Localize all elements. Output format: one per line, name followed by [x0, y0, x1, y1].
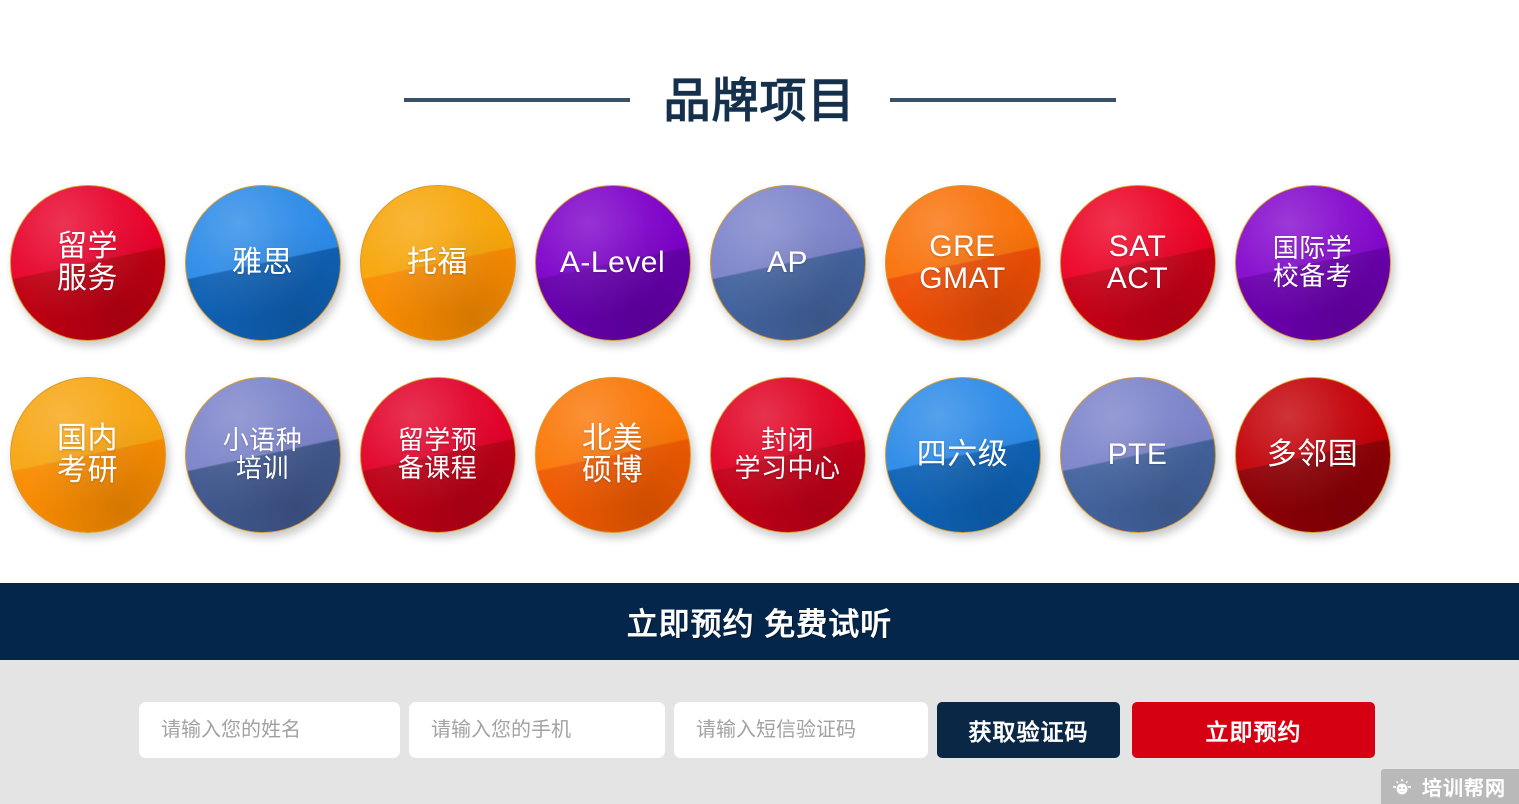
booking-form-strip: 获取验证码 立即预约 [0, 660, 1519, 804]
program-cell: 雅思 [175, 178, 350, 348]
program-circle-beimei-shuobo[interactable]: 北美 硕博 [535, 377, 691, 533]
program-label: 北美 硕博 [576, 423, 649, 487]
get-verification-code-button[interactable]: 获取验证码 [937, 702, 1120, 758]
name-input[interactable] [139, 702, 400, 758]
program-label: GRE GMAT [913, 231, 1011, 295]
program-cell: 国际学 校备考 [1225, 178, 1400, 348]
program-circle-grid: 留学 服务雅思托福A-LevelAPGRE GMATSAT ACT国际学 校备考… [0, 178, 1519, 544]
title-rule-left [404, 98, 630, 102]
program-circle-siliuji[interactable]: 四六级 [885, 377, 1041, 533]
program-label: 雅思 [226, 247, 299, 279]
program-cell: 北美 硕博 [525, 370, 700, 540]
program-cell: 多邻国 [1225, 370, 1400, 540]
program-cell: 封闭 学习中心 [700, 370, 875, 540]
program-circle-guoji-xuexiao[interactable]: 国际学 校备考 [1235, 185, 1391, 341]
program-label: 国内 考研 [51, 423, 124, 487]
program-label: 留学预 备课程 [392, 427, 484, 482]
program-cell: 四六级 [875, 370, 1050, 540]
program-label: A-Level [554, 247, 671, 279]
program-label: 封闭 学习中心 [728, 427, 846, 482]
program-cell: SAT ACT [1050, 178, 1225, 348]
program-cell: PTE [1050, 370, 1225, 540]
page-title-bar: 品牌项目 [0, 62, 1519, 138]
program-row-2: 国内 考研小语种 培训留学预 备课程北美 硕博封闭 学习中心四六级PTE多邻国 [0, 370, 1519, 540]
program-label: 四六级 [911, 439, 1015, 471]
phone-input[interactable] [409, 702, 665, 758]
brand-programs-page: 品牌项目 留学 服务雅思托福A-LevelAPGRE GMATSAT ACT国际… [0, 0, 1519, 804]
program-label: 小语种 培训 [217, 427, 309, 482]
program-circle-pte[interactable]: PTE [1060, 377, 1216, 533]
program-cell: A-Level [525, 178, 700, 348]
program-row-1: 留学 服务雅思托福A-LevelAPGRE GMATSAT ACT国际学 校备考 [0, 178, 1519, 348]
program-circle-guonei-kaoyan[interactable]: 国内 考研 [10, 377, 166, 533]
program-label: SAT ACT [1101, 231, 1175, 295]
program-cell: GRE GMAT [875, 178, 1050, 348]
program-circle-tuofu[interactable]: 托福 [360, 185, 516, 341]
program-cell: 留学预 备课程 [350, 370, 525, 540]
site-watermark: 培训帮网 [1381, 769, 1519, 804]
program-cell: 国内 考研 [0, 370, 175, 540]
program-circle-a-level[interactable]: A-Level [535, 185, 691, 341]
program-cell: 托福 [350, 178, 525, 348]
program-label: 留学 服务 [51, 231, 124, 295]
program-label: 国际学 校备考 [1267, 235, 1359, 290]
booking-form: 获取验证码 立即预约 [139, 702, 1375, 758]
sms-code-input[interactable] [674, 702, 928, 758]
program-cell: AP [700, 178, 875, 348]
sun-face-icon [1390, 775, 1414, 799]
program-circle-xiaoyuzhong[interactable]: 小语种 培训 [185, 377, 341, 533]
program-circle-liuxue-fuwu[interactable]: 留学 服务 [10, 185, 166, 341]
program-label: PTE [1102, 439, 1174, 471]
page-title: 品牌项目 [664, 77, 856, 124]
program-cell: 留学 服务 [0, 178, 175, 348]
program-circle-ap[interactable]: AP [710, 185, 866, 341]
program-circle-sat-act[interactable]: SAT ACT [1060, 185, 1216, 341]
program-circle-gre-gmat[interactable]: GRE GMAT [885, 185, 1041, 341]
program-circle-fengbi-xuexi[interactable]: 封闭 学习中心 [710, 377, 866, 533]
program-label: 托福 [401, 247, 474, 279]
program-label: 多邻国 [1261, 439, 1365, 471]
title-rule-right [890, 98, 1116, 102]
submit-booking-button[interactable]: 立即预约 [1132, 702, 1375, 758]
program-label: AP [761, 247, 814, 279]
cta-banner-text: 立即预约 免费试听 [627, 599, 893, 644]
watermark-text: 培训帮网 [1422, 772, 1506, 801]
program-circle-liuxue-yubei[interactable]: 留学预 备课程 [360, 377, 516, 533]
cta-banner: 立即预约 免费试听 [0, 583, 1519, 660]
program-circle-duolinguo[interactable]: 多邻国 [1235, 377, 1391, 533]
program-cell: 小语种 培训 [175, 370, 350, 540]
program-circle-yasi[interactable]: 雅思 [185, 185, 341, 341]
